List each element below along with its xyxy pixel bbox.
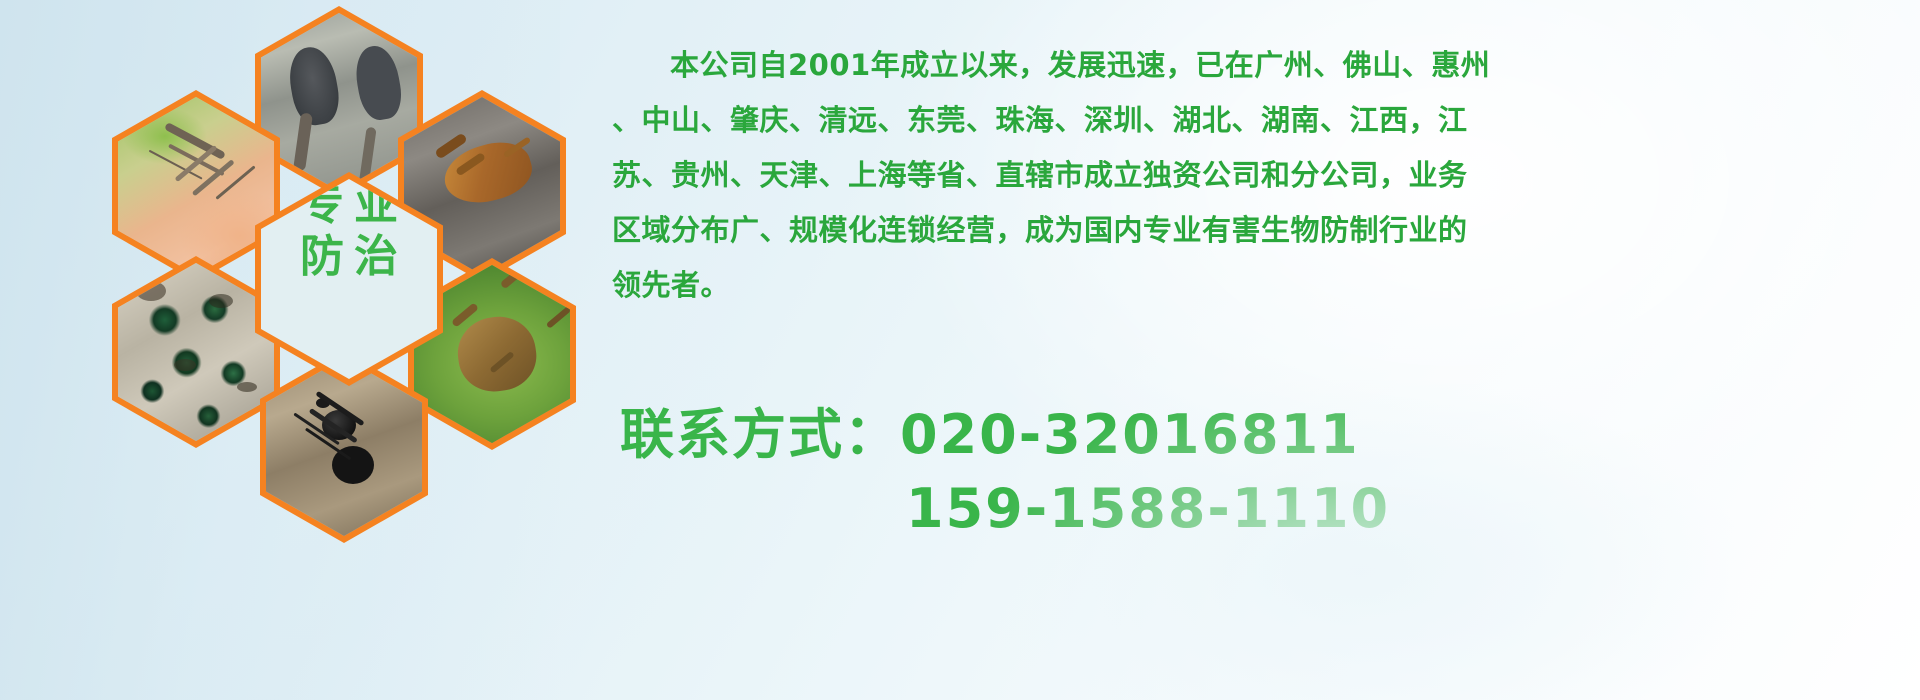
hex-cell-mosquito	[112, 90, 280, 282]
contact-block: 联系方式：020-32016811 159-1588-1110	[620, 398, 1920, 546]
mosquito-photo	[118, 97, 274, 275]
hex-inner-flies	[118, 263, 274, 441]
hex-inner-rats	[261, 13, 417, 191]
hex-cell-rats	[255, 6, 423, 198]
logo-text-line2: 防治	[290, 231, 408, 283]
promo-banner: 专业 防治 本公司自2001年成立以来，发展迅速，已在广州、佛山、惠州 、中山、…	[0, 0, 1920, 700]
honeycomb-image-cluster: 专业 防治	[88, 6, 588, 566]
hex-cell-flies	[112, 256, 280, 448]
hex-inner-logo-text: 专业 防治	[261, 179, 437, 379]
company-description: 本公司自2001年成立以来，发展迅速，已在广州、佛山、惠州 、中山、肇庆、清远、…	[612, 38, 1912, 313]
ant-photo	[266, 358, 422, 536]
rats-photo	[261, 13, 417, 191]
description-line-2: 、中山、肇庆、清远、东莞、珠海、深圳、湖北、湖南、江西，江	[612, 93, 1912, 148]
description-line-1: 本公司自2001年成立以来，发展迅速，已在广州、佛山、惠州	[612, 38, 1912, 93]
logo-text-line1: 专业	[290, 179, 408, 231]
description-line-3: 苏、贵州、天津、上海等省、直辖市成立独资公司和分公司，业务	[612, 148, 1912, 203]
description-line-5: 领先者。	[612, 258, 1912, 313]
contact-phone-primary[interactable]: 联系方式：020-32016811	[620, 398, 1920, 472]
contact-phone-secondary[interactable]: 159-1588-1110	[620, 472, 1920, 546]
description-line-4: 区域分布广、规模化连锁经营，成为国内专业有害生物防制行业的	[612, 203, 1912, 258]
flies-photo	[118, 263, 274, 441]
hex-inner-ant	[266, 358, 422, 536]
hex-inner-mosquito	[118, 97, 274, 275]
